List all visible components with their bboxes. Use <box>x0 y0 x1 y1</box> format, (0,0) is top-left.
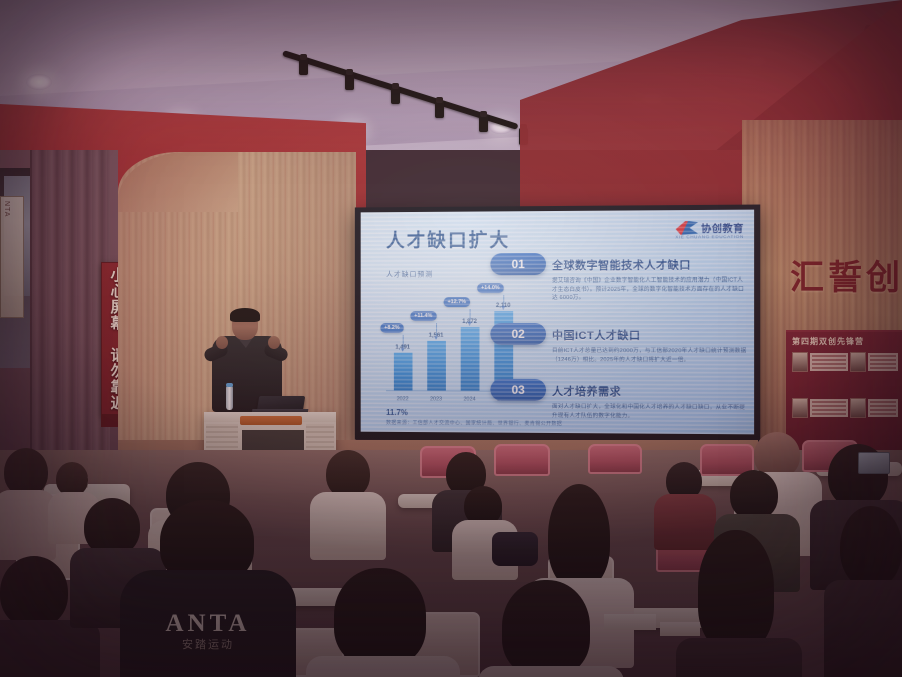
point-body-02: 目前ICT人才总量已达到约2000万，与工信部2020年人才缺口统计预测数据（1… <box>552 347 748 364</box>
slide-point-02: 02 中国ICT人才缺口 目前ICT人才总量已达到约2000万，与工信部2020… <box>524 327 748 364</box>
point-heading-01: 全球数字智能技术人才缺口 <box>552 256 748 273</box>
person-head <box>334 568 426 666</box>
wall-banner-characters: 汇誓创 <box>790 248 902 294</box>
person-head <box>326 450 370 498</box>
poster-caption <box>868 399 898 417</box>
slide-logo: 协创教育 <box>676 220 744 236</box>
track-light-head-2 <box>345 73 354 90</box>
person-body <box>306 656 460 677</box>
person-head <box>4 448 48 496</box>
projected-slide: 人才缺口扩大 协创教育 XIE CHUANG EDUCATION 人才缺口预测 … <box>361 210 754 435</box>
podium-accent-band <box>240 416 302 425</box>
poster-cell-1 <box>792 352 848 372</box>
person-head <box>840 506 902 588</box>
chart-connector-1 <box>403 335 404 349</box>
water-bottle <box>226 386 233 410</box>
point-heading-02: 中国ICT人才缺口 <box>552 327 748 343</box>
chair-2[interactable] <box>494 444 550 476</box>
footnote-source: 数据来源：工信部人才交流中心、国家统计局、世界银行、麦肯锡公开数据 <box>386 419 562 427</box>
chair-back <box>588 444 642 474</box>
chart-connector-4 <box>503 295 504 307</box>
person-head <box>56 462 88 496</box>
chart-xtick-2022: 2022 <box>397 396 409 402</box>
person-head <box>0 556 68 628</box>
chart-growth-2023: +11.4% <box>410 311 436 321</box>
track-light-head-5 <box>479 115 488 132</box>
person-body <box>654 494 716 550</box>
person-head <box>548 484 610 588</box>
chart-xtick-2023: 2023 <box>430 396 442 402</box>
poster-portrait <box>850 352 866 372</box>
poster-caption <box>810 353 848 371</box>
point-heading-03: 人才培养需求 <box>552 383 748 400</box>
paper-sheet <box>604 614 656 630</box>
person-body <box>310 492 386 560</box>
chart-bar-2023 <box>427 341 446 391</box>
poster-cell-4 <box>850 398 898 418</box>
point-badge-02: 02 <box>490 323 546 345</box>
person-body <box>478 666 624 677</box>
person-head <box>698 530 774 650</box>
anta-shirt-text: ANTA <box>120 610 296 638</box>
lecture-hall-scene: NTA 小心屏幕，请勿靠近 汇誓创 第四期双创先锋营 <box>0 0 902 677</box>
track-light <box>283 46 527 124</box>
chart-bar-2024 <box>461 327 480 391</box>
poster-portrait <box>792 398 808 418</box>
wall-banner-text: 汇誓创 <box>790 250 902 294</box>
chart-xtick-2024: 2024 <box>464 397 476 403</box>
speaker-hair <box>230 308 260 322</box>
speaker-left-hand <box>216 336 228 349</box>
backpack <box>492 532 538 566</box>
track-light-head-3 <box>391 87 400 104</box>
downlight-1 <box>26 74 52 90</box>
chart-bar-2022 <box>394 353 413 391</box>
poster-caption <box>810 399 848 417</box>
chart-growth-2025: +14.0% <box>477 283 504 293</box>
person-body <box>0 620 100 677</box>
poster-cell-2 <box>850 352 898 372</box>
left-wall-poster: NTA <box>0 196 24 318</box>
poster-portrait <box>792 352 808 372</box>
poster-caption <box>868 353 898 371</box>
chart-connector-2 <box>436 323 437 337</box>
point-badge-01: 01 <box>490 253 546 275</box>
person-body <box>676 638 802 677</box>
slide-title: 人才缺口扩大 <box>386 225 510 252</box>
person-body <box>824 580 902 677</box>
point-body-03: 面对人才缺口扩大，全球化和中国化人才培养的人才缺口缺口，从业不断提升现有人才队伍… <box>552 403 748 421</box>
track-light-head-1 <box>299 58 308 75</box>
person-head <box>502 580 590 676</box>
track-light-head-4 <box>435 101 444 118</box>
speaker-right-hand <box>268 336 280 349</box>
point-body-01: 据艾瑞咨询《中国》企业数字智能化人工智能技术的应用潜力（中国ICT人才生态白皮书… <box>552 276 748 302</box>
poster-title: 第四期双创先锋营 <box>792 336 898 347</box>
water-bottle-cap <box>226 383 233 387</box>
poster-cell-3 <box>792 398 848 418</box>
projection-screen-bezel: 人才缺口扩大 协创教育 XIE CHUANG EDUCATION 人才缺口预测 … <box>355 205 760 443</box>
chart-growth-2024: +12.7% <box>444 297 470 307</box>
slide-logo-text: 协创教育 <box>701 220 744 235</box>
chair-3[interactable] <box>588 444 642 474</box>
person-head <box>730 470 778 520</box>
chart-growth-2022: +8.2% <box>380 323 403 333</box>
chart-connector-3 <box>470 309 471 323</box>
poster-portrait <box>850 398 866 418</box>
paper-sheet-2 <box>660 622 700 636</box>
chair-back <box>494 444 550 476</box>
anta-tshirt: ANTA 安踏运动 <box>120 570 296 677</box>
chart-caption: 人才缺口预测 <box>386 269 433 279</box>
anta-shirt-subtext: 安踏运动 <box>120 636 296 652</box>
left-poster-text: NTA <box>3 201 10 217</box>
phone-device[interactable] <box>858 452 890 474</box>
slide-point-01: 01 全球数字智能技术人才缺口 据艾瑞咨询《中国》企业数字智能化人工智能技术的应… <box>524 256 748 302</box>
point-badge-03: 03 <box>490 379 546 401</box>
slide-point-03: 03 人才培养需求 面对人才缺口扩大，全球化和中国化人才培养的人才缺口缺口，从业… <box>524 383 748 421</box>
swoosh-logo-icon <box>676 221 698 235</box>
slide-logo-subtext: XIE CHUANG EDUCATION <box>675 234 744 239</box>
